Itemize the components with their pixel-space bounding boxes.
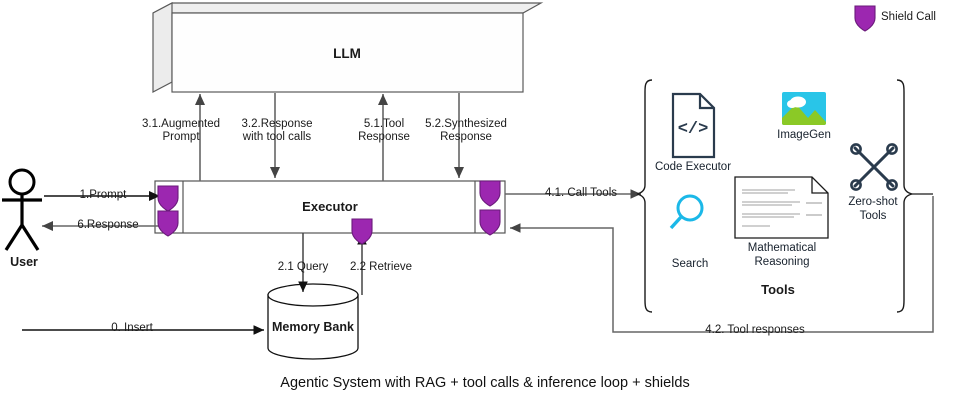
formula-document-icon (735, 177, 828, 238)
diagram-caption: Agentic System with RAG + tool calls & i… (0, 375, 970, 391)
user-label: User (0, 256, 48, 269)
image-icon (782, 92, 826, 125)
tools-group-brace-left (637, 80, 652, 312)
tool-label-mathematical-reasoning: Mathematical Reasoning (735, 242, 829, 269)
magnifier-icon (671, 196, 702, 228)
edge-label-query: 2.1 Query (265, 261, 341, 274)
edge-label-prompt: 1.Prompt (62, 189, 144, 202)
edge-label-insert: 0. Insert (96, 322, 168, 335)
tool-label-search: Search (660, 258, 720, 272)
edge-label-response-tool-calls: 3.2.Response with tool calls (233, 118, 321, 144)
user-figure (2, 170, 42, 250)
edge-label-tool-response: 5.1.Tool Response (348, 118, 420, 144)
memory-bank-label: Memory Bank (253, 321, 373, 334)
edge-label-retrieve: 2.2 Retrieve (337, 261, 425, 274)
tool-label-imagegen: ImageGen (764, 129, 844, 143)
svg-text:</>: </> (678, 120, 709, 139)
crossed-wrenches-icon (851, 144, 896, 189)
edge-label-tool-responses: 4.2. Tool responses (665, 324, 845, 337)
edge-label-call-tools: 4.1. Call Tools (534, 187, 628, 200)
edge-label-response: 6.Response (62, 219, 154, 232)
edge-label-augmented-prompt: 3.1.Augmented Prompt (142, 118, 220, 144)
shield-icon-executor-memory (352, 219, 372, 244)
legend-label: Shield Call (881, 11, 970, 24)
llm-label: LLM (272, 47, 422, 60)
executor-label: Executor (255, 200, 405, 213)
edge-label-synthesized-response: 5.2.Synthesized Response (420, 118, 512, 144)
tools-group-label: Tools (723, 283, 833, 296)
shield-icon-legend (855, 6, 875, 31)
code-document-icon: </> (673, 94, 714, 157)
diagram-connectors: </> (0, 0, 970, 411)
tool-label-zero-shot-tools: Zero-shot Tools (836, 196, 910, 223)
tool-label-code-executor: Code Executor (643, 161, 743, 175)
